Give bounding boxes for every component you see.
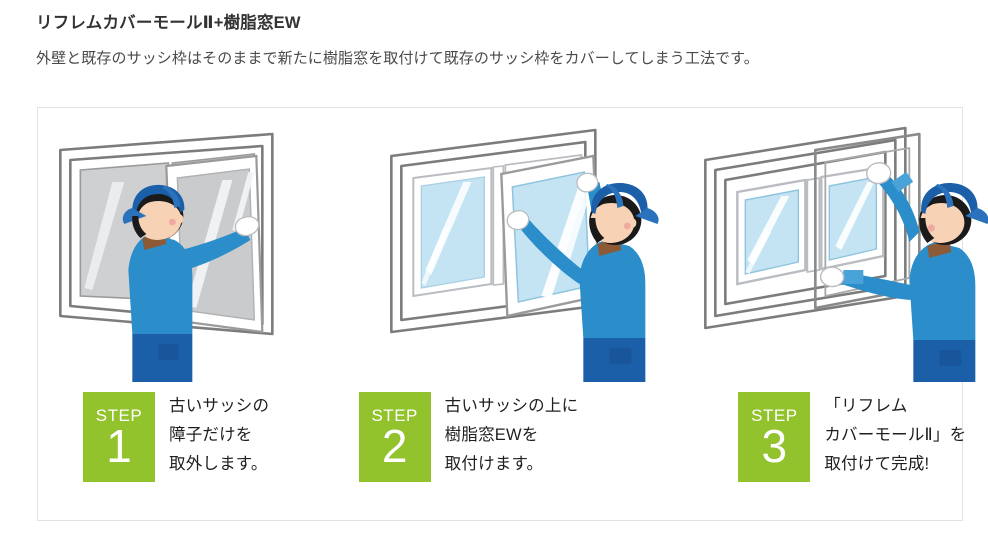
caption-line: 取付けます。 (445, 450, 579, 479)
step-caption-3: 「リフレム カバーモールⅡ」を 取付けて完成! (824, 392, 966, 479)
caption-line: 障子だけを (169, 421, 269, 450)
caption-line: 取付けて完成! (824, 450, 966, 479)
step-badge-number: 2 (382, 425, 408, 469)
caption-line: カバーモールⅡ」を (824, 421, 966, 450)
step-badge-3: STEP 3 (738, 392, 810, 482)
caption-line: 「リフレム (824, 392, 966, 421)
page-subtitle: 外壁と既存のサッシ枠はそのままで新たに樹脂窓を取付けて既存のサッシ枠をカバーして… (36, 47, 759, 68)
step-caption-row-2: STEP 2 古いサッシの上に 樹脂窓EWを 取付けます。 (347, 392, 668, 496)
illustration-step-2 (377, 120, 686, 382)
caption-line: 古いサッシの上に (445, 392, 579, 421)
step-caption-1: 古いサッシの 障子だけを 取外します。 (169, 392, 269, 479)
step-column-2: STEP 2 古いサッシの上に 樹脂窓EWを 取付けます。 (347, 108, 656, 522)
caption-line: 古いサッシの (169, 392, 269, 421)
caption-line: 樹脂窓EWを (445, 421, 579, 450)
step-column-1: STEP 1 古いサッシの 障子だけを 取外します。 (38, 108, 347, 522)
step-caption-2: 古いサッシの上に 樹脂窓EWを 取付けます。 (445, 392, 579, 479)
step-column-3: STEP 3 「リフレム カバーモールⅡ」を 取付けて完成! (655, 108, 964, 522)
illustration-step-3 (693, 120, 988, 382)
step-badge-number: 1 (106, 425, 132, 469)
steps-container: STEP 1 古いサッシの 障子だけを 取外します。 (38, 108, 964, 522)
illustration-step-1 (42, 120, 351, 382)
caption-line: 取外します。 (169, 450, 269, 479)
steps-panel: STEP 1 古いサッシの 障子だけを 取外します。 (37, 107, 963, 521)
step-caption-row-3: STEP 3 「リフレム カバーモールⅡ」を 取付けて完成! (655, 392, 988, 496)
step-badge-1: STEP 1 (83, 392, 155, 482)
step-caption-row-1: STEP 1 古いサッシの 障子だけを 取外します。 (38, 392, 392, 496)
step-badge-number: 3 (762, 425, 788, 469)
step-badge-2: STEP 2 (359, 392, 431, 482)
page-title: リフレムカバーモールⅡ+樹脂窓EW (36, 9, 301, 33)
